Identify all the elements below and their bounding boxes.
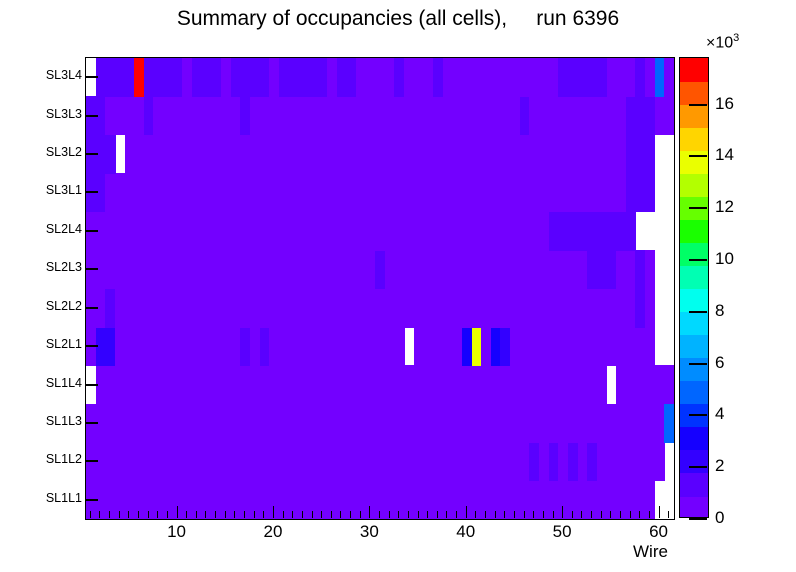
chart-title: Summary of occupancies (all cells), run … xyxy=(0,7,796,31)
x-axis-tick xyxy=(128,511,129,518)
y-axis-labels: SL1L1SL1L2SL1L3SL1L4SL2L1SL2L2SL2L3SL2L4… xyxy=(12,0,82,572)
colorbar-tick xyxy=(689,311,707,313)
colorbar-tick xyxy=(689,363,707,365)
x-axis-tick-label: 50 xyxy=(553,522,572,542)
heatmap-cell xyxy=(664,365,674,404)
x-axis-tick xyxy=(601,511,602,518)
x-axis-tick xyxy=(379,511,380,518)
y-axis-tick xyxy=(85,460,98,462)
colorbar-tick-label: 10 xyxy=(715,249,734,269)
x-axis-tick xyxy=(292,511,293,518)
x-axis-tick xyxy=(244,511,245,518)
x-axis-tick xyxy=(649,511,650,518)
x-axis-tick xyxy=(543,511,544,518)
x-axis-tick xyxy=(331,511,332,518)
y-axis-tick xyxy=(85,76,98,78)
x-axis-tick xyxy=(90,511,91,518)
y-axis-label-sl1l1: SL1L1 xyxy=(18,491,82,505)
x-axis-tick xyxy=(659,506,660,518)
y-axis-tick xyxy=(85,191,98,193)
x-axis-tick xyxy=(475,511,476,518)
colorbar-tick xyxy=(689,155,707,157)
x-axis-tick xyxy=(514,511,515,518)
x-axis-title: Wire xyxy=(633,542,668,562)
x-axis-tick xyxy=(99,511,100,518)
x-axis-tick xyxy=(283,511,284,518)
x-axis-tick xyxy=(533,511,534,518)
x-axis-tick xyxy=(254,511,255,518)
y-axis-tick xyxy=(85,307,98,309)
x-axis-tick xyxy=(312,511,313,518)
x-axis-tick xyxy=(138,511,139,518)
x-axis-tick xyxy=(167,511,168,518)
colorbar-tick-label: 6 xyxy=(715,353,724,373)
x-axis-tick xyxy=(466,506,467,518)
y-axis-tick xyxy=(85,499,98,501)
heatmap-cell xyxy=(655,442,665,481)
x-axis-tick xyxy=(437,511,438,518)
x-axis-tick xyxy=(562,506,563,518)
heatmap-cell xyxy=(645,481,655,519)
x-axis-tick-label: 20 xyxy=(263,522,282,542)
y-axis-label-sl2l1: SL2L1 xyxy=(18,337,82,351)
x-axis-tick xyxy=(225,511,226,518)
colorbar-tick xyxy=(689,414,707,416)
heatmap-cell xyxy=(105,135,115,174)
colorbar-tick xyxy=(689,207,707,209)
y-axis-label-sl3l2: SL3L2 xyxy=(18,145,82,159)
heatmap-cell xyxy=(394,327,404,366)
colorbar-tick xyxy=(689,518,707,520)
heatmap-cell xyxy=(626,212,636,251)
x-axis-tick xyxy=(389,511,390,518)
x-axis-tick xyxy=(418,511,419,518)
colorbar-multiplier-exponent: 3 xyxy=(733,32,739,44)
heatmap-cell xyxy=(645,327,655,366)
x-axis-tick-label: 30 xyxy=(360,522,379,542)
x-axis-tick xyxy=(234,511,235,518)
y-axis-label-sl2l4: SL2L4 xyxy=(18,222,82,236)
x-axis-tick xyxy=(109,511,110,518)
y-axis-label-sl3l4: SL3L4 xyxy=(18,68,82,82)
x-axis-tick xyxy=(524,511,525,518)
y-axis-label-sl1l4: SL1L4 xyxy=(18,376,82,390)
heatmap-cell xyxy=(664,96,674,135)
y-axis-label-sl2l2: SL2L2 xyxy=(18,299,82,313)
x-axis-tick xyxy=(302,511,303,518)
colorbar-tick-label: 8 xyxy=(715,301,724,321)
x-axis-tick xyxy=(215,511,216,518)
x-axis-tick xyxy=(620,511,621,518)
heatmap-cell xyxy=(645,250,655,289)
x-axis-tick xyxy=(321,511,322,518)
colorbar-tick-label: 16 xyxy=(715,94,734,114)
x-axis-tick xyxy=(591,511,592,518)
x-axis-tick xyxy=(350,511,351,518)
x-axis-tick xyxy=(504,511,505,518)
x-axis-tick-label: 40 xyxy=(456,522,475,542)
colorbar-tick xyxy=(689,104,707,106)
colorbar-tick-label: 4 xyxy=(715,404,724,424)
x-axis-tick xyxy=(157,511,158,518)
x-axis-tick xyxy=(360,511,361,518)
x-axis-tick xyxy=(639,511,640,518)
x-axis-tick xyxy=(668,511,669,518)
x-axis-tick xyxy=(186,511,187,518)
x-axis-tick xyxy=(119,511,120,518)
y-axis-label-sl3l3: SL3L3 xyxy=(18,107,82,121)
x-axis-tick xyxy=(446,511,447,518)
y-axis-tick xyxy=(85,230,98,232)
y-axis-label-sl1l3: SL1L3 xyxy=(18,414,82,428)
x-axis-tick xyxy=(495,511,496,518)
colorbar-tick xyxy=(689,466,707,468)
heatmap-cell xyxy=(645,289,655,328)
y-axis-label-sl1l2: SL1L2 xyxy=(18,452,82,466)
y-axis-tick xyxy=(85,345,98,347)
heatmap-cell xyxy=(664,58,674,97)
y-axis-tick xyxy=(85,268,98,270)
y-axis-label-sl2l3: SL2L3 xyxy=(18,260,82,274)
y-axis-tick xyxy=(85,422,98,424)
colorbar-tick xyxy=(689,259,707,261)
x-axis-tick xyxy=(273,506,274,518)
heatmap-cell xyxy=(664,404,674,443)
x-axis-tick xyxy=(610,511,611,518)
x-axis-tick xyxy=(369,506,370,518)
heatmap-cell xyxy=(645,135,655,174)
x-axis-tick xyxy=(196,511,197,518)
x-axis-tick xyxy=(485,511,486,518)
x-axis-tick xyxy=(398,511,399,518)
colorbar-ticks: 0246810121416 xyxy=(679,57,796,518)
y-axis-tick xyxy=(85,115,98,117)
x-axis-tick xyxy=(205,511,206,518)
colorbar-multiplier-base: ×10 xyxy=(706,34,733,51)
x-axis-tick xyxy=(148,511,149,518)
x-axis-tick xyxy=(553,511,554,518)
x-axis-tick-labels: 102030405060 xyxy=(0,520,796,550)
heatmap-cells xyxy=(86,58,674,519)
x-axis-tick xyxy=(427,511,428,518)
x-axis-tick-label: 60 xyxy=(649,522,668,542)
heatmap-cell xyxy=(645,173,655,212)
x-axis-tick xyxy=(572,511,573,518)
x-axis-tick xyxy=(456,511,457,518)
colorbar-tick-label: 0 xyxy=(715,508,724,528)
colorbar-tick-label: 14 xyxy=(715,145,734,165)
x-axis-tick xyxy=(263,511,264,518)
y-axis-tick xyxy=(85,153,98,155)
heatmap-plot-area[interactable] xyxy=(85,57,675,520)
x-axis-tick xyxy=(177,506,178,518)
colorbar-tick-label: 2 xyxy=(715,456,724,476)
y-axis-tick xyxy=(85,384,98,386)
x-axis-tick xyxy=(340,511,341,518)
heatmap-cell xyxy=(597,365,607,404)
x-axis-tick xyxy=(581,511,582,518)
x-axis-tick xyxy=(408,511,409,518)
x-axis-tick-label: 10 xyxy=(167,522,186,542)
x-axis-tick xyxy=(630,511,631,518)
y-axis-label-sl3l1: SL3L1 xyxy=(18,183,82,197)
colorbar-multiplier: ×103 xyxy=(706,32,739,52)
colorbar-tick-label: 12 xyxy=(715,197,734,217)
